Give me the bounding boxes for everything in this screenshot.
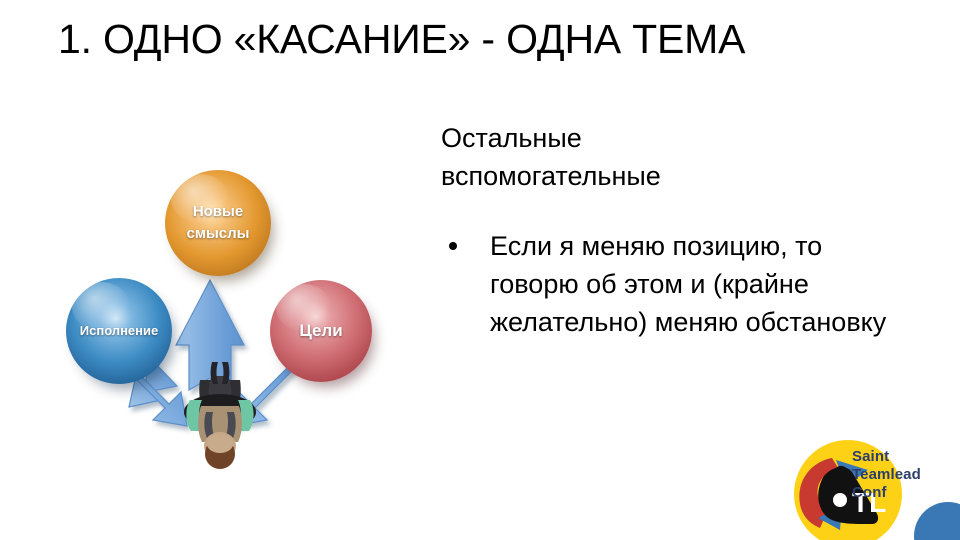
logo-line-1: Saint <box>852 448 921 466</box>
sphere-goals-label: Цели <box>293 320 348 342</box>
list-item-text: Если я меняю позицию, то говорю об этом … <box>490 231 886 337</box>
slide-canvas: 1. ОДНО «КАСАНИЕ» - ОДНА ТЕМА <box>0 0 960 540</box>
lead-paragraph: Остальные вспомогательные <box>441 119 721 195</box>
bullet-list: Если я меняю позицию, то говорю об этом … <box>441 227 911 341</box>
logo-line-3: Conf <box>852 484 921 502</box>
sphere-new-meanings[interactable]: Новые смыслы <box>165 170 271 276</box>
sphere-goals[interactable]: Цели <box>270 280 372 382</box>
sphere-execution[interactable]: Исполнение <box>66 278 172 384</box>
content-text-block: Остальные вспомогательные Если я меняю п… <box>441 119 911 341</box>
page-title: 1. ОДНО «КАСАНИЕ» - ОДНА ТЕМА <box>58 14 938 64</box>
conference-logo: TL Saint Teamlead Conf <box>760 432 960 540</box>
bullet-dot-icon <box>449 242 457 250</box>
logo-line-2: Teamlead <box>852 466 921 484</box>
logo-wordmark: Saint Teamlead Conf <box>852 448 921 502</box>
sphere-new-meanings-label: Новые смыслы <box>165 201 271 245</box>
sphere-execution-label: Исполнение <box>74 322 164 340</box>
three-spheres-diagram: Новые смыслы Исполнение Цели <box>30 150 430 510</box>
list-item: Если я меняю позицию, то говорю об этом … <box>441 227 911 341</box>
